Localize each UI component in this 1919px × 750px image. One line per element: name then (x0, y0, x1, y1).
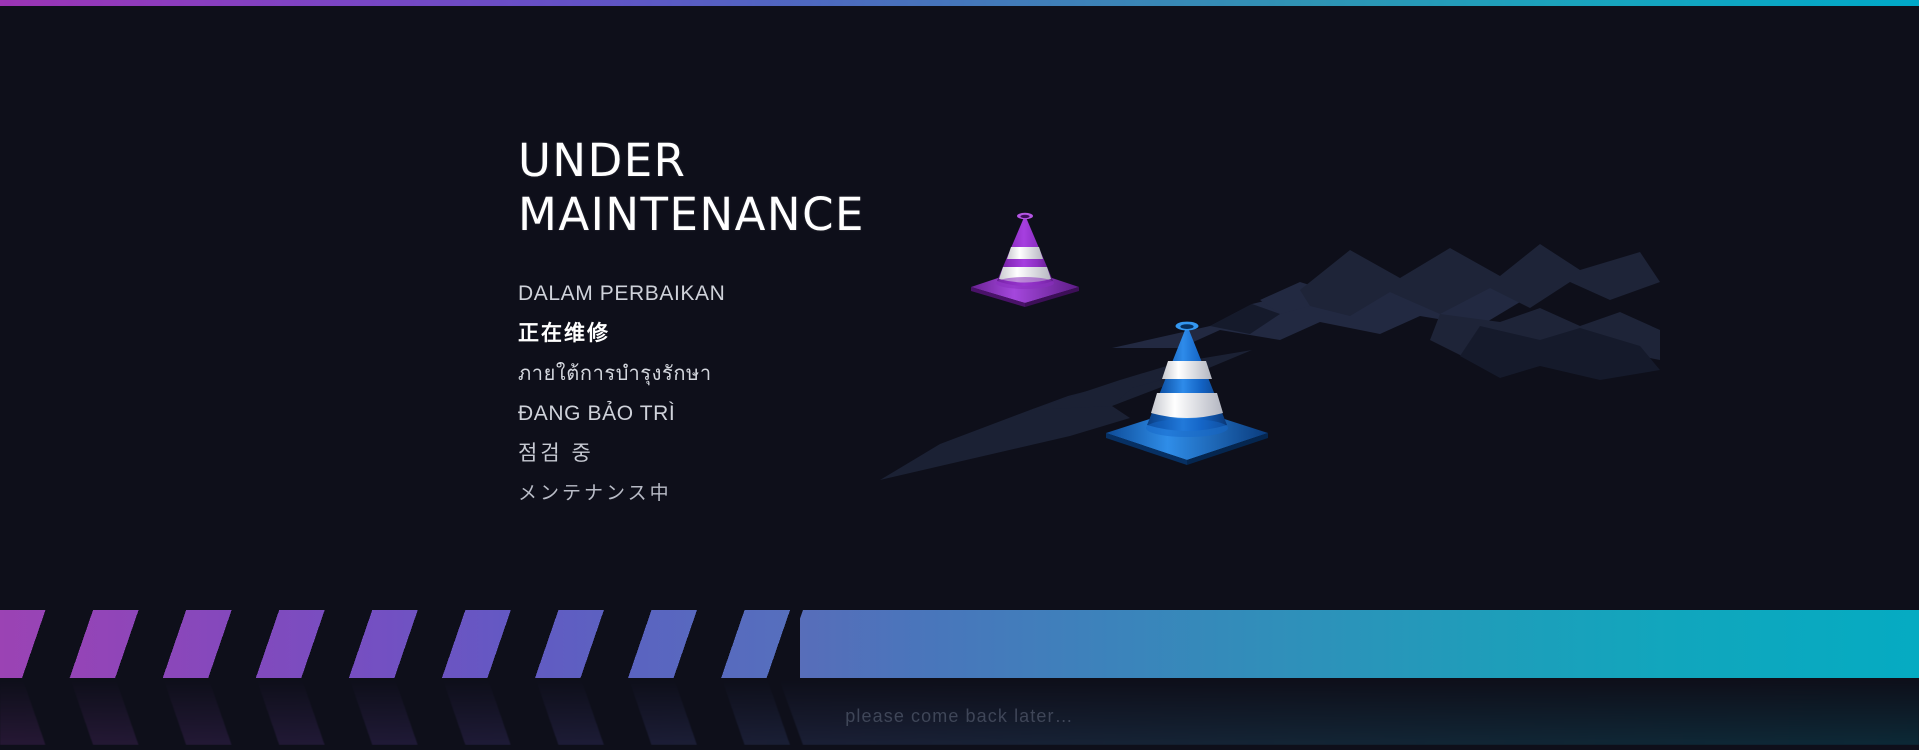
translation-thai: ภายใต้การบำรุงรักษา (518, 354, 1278, 394)
footer-note: please come back later… (0, 706, 1919, 727)
translation-korean: 점검 중 (518, 434, 1278, 474)
translation-indonesian: DALAM PERBAIKAN (518, 274, 1278, 314)
maintenance-stage: UNDER MAINTENANCE DALAM PERBAIKAN 正在维修 ภ… (0, 0, 1919, 750)
translations-list: DALAM PERBAIKAN 正在维修 ภายใต้การบำรุงรักษา… (518, 274, 1278, 514)
hazard-band-gaps (0, 610, 800, 678)
translation-chinese: 正在维修 (518, 314, 1278, 354)
translation-vietnamese: ĐANG BẢO TRÌ (518, 394, 1278, 434)
maintenance-copy: UNDER MAINTENANCE DALAM PERBAIKAN 正在维修 ภ… (518, 134, 1278, 514)
translation-japanese: メンテナンス中 (518, 474, 1278, 514)
page-title: UNDER MAINTENANCE (518, 134, 1278, 242)
hazard-band-solid (779, 610, 1919, 678)
hazard-stripe-band (0, 610, 1919, 678)
